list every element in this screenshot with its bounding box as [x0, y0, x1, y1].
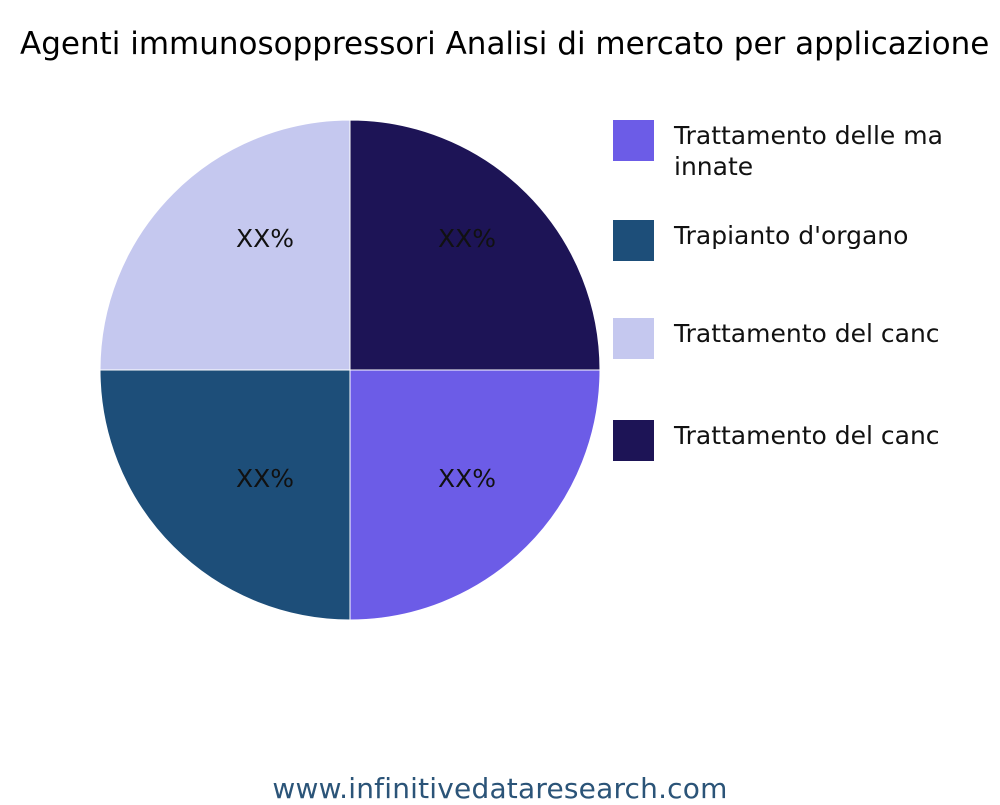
pie-slice[interactable] [350, 370, 600, 620]
legend-color-swatch [613, 120, 654, 161]
pie-slice[interactable] [100, 120, 350, 370]
legend-color-swatch [613, 420, 654, 461]
legend-item-label: Trattamento delle ma innate [674, 120, 943, 182]
pie-slice-label: XX% [236, 464, 294, 493]
legend-item[interactable]: Trattamento delle ma innate [613, 120, 943, 182]
legend-item-label: Trapianto d'organo [674, 220, 908, 251]
pie-chart-svg: XX%XX%XX%XX% [100, 120, 600, 620]
pie-slice-label: XX% [236, 224, 294, 253]
pie-slice-label: XX% [438, 464, 496, 493]
footer-url[interactable]: www.infinitivedataresearch.com [0, 772, 1000, 805]
page-title: Agenti immunosoppressori Analisi di merc… [20, 24, 1000, 64]
legend-item-label: Trattamento del canc [674, 318, 940, 349]
pie-slice[interactable] [100, 370, 350, 620]
pie-slice-label: XX% [438, 224, 496, 253]
legend-item-label: Trattamento del canc [674, 420, 940, 451]
legend-color-swatch [613, 220, 654, 261]
pie-chart: XX%XX%XX%XX% [100, 120, 600, 620]
legend-color-swatch [613, 318, 654, 359]
legend-item[interactable]: Trattamento del canc [613, 318, 940, 359]
legend-item[interactable]: Trapianto d'organo [613, 220, 908, 261]
pie-slice-group [100, 120, 600, 620]
legend-item[interactable]: Trattamento del canc [613, 420, 940, 461]
